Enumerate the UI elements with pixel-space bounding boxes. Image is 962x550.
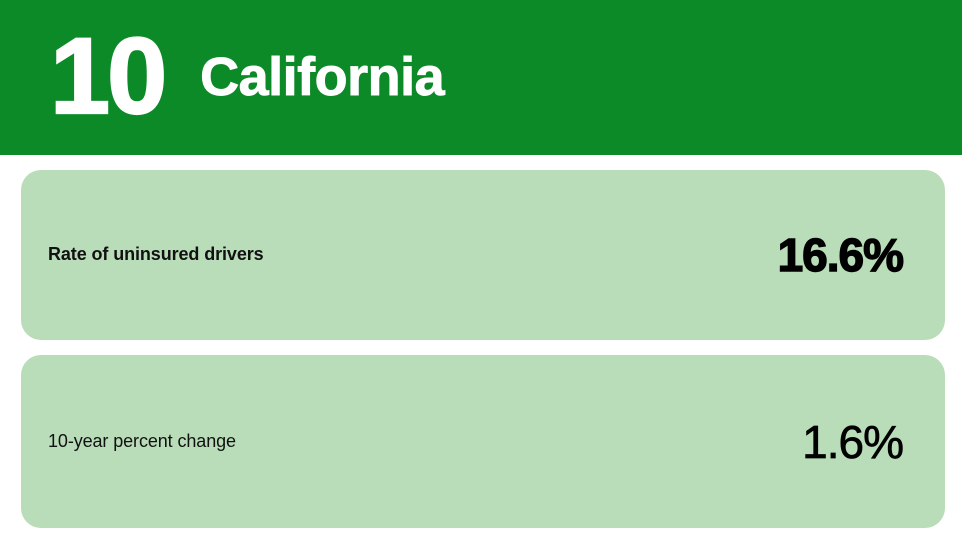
stat-value-uninsured-rate: 16.6% <box>778 232 903 278</box>
state-rank-number: 10 <box>50 22 164 130</box>
stat-value-ten-year-change: 1.6% <box>802 419 903 465</box>
stat-label-ten-year-change: 10-year percent change <box>48 431 236 453</box>
stat-card-uninsured-rate: Rate of uninsured drivers 16.6% <box>21 170 945 340</box>
state-name-title: California <box>200 50 444 104</box>
stat-card-ten-year-change: 10-year percent change 1.6% <box>21 355 945 528</box>
state-header-banner: 10 California <box>0 0 962 155</box>
state-stat-slide: 10 California Rate of uninsured drivers … <box>0 0 962 550</box>
stat-label-uninsured-rate: Rate of uninsured drivers <box>48 244 264 266</box>
